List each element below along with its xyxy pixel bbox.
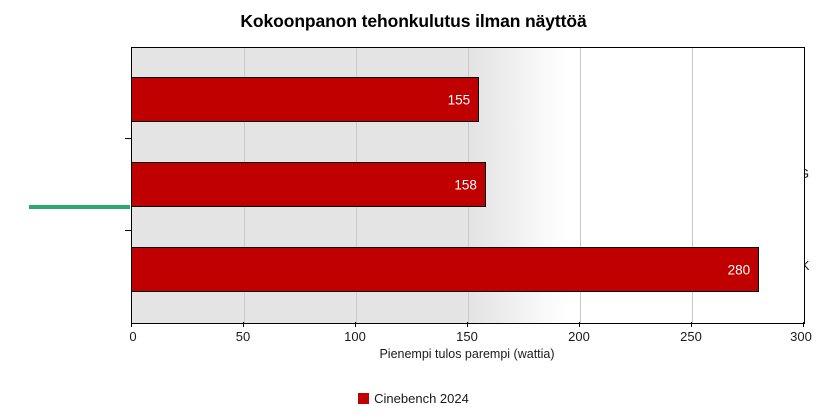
bar-value-1: 158: [454, 178, 477, 192]
x-axis-label-4: 200: [568, 329, 590, 345]
x-axis-tick-2: [355, 322, 356, 327]
legend-label-0: Cinebench 2024: [374, 391, 469, 406]
x-axis-tick-6: [803, 322, 804, 327]
category-highlight-underline: [29, 205, 130, 209]
x-axis-tick-4: [579, 322, 580, 327]
x-axis-label-6: 300: [790, 329, 812, 345]
x-axis-label-3: 150: [456, 329, 478, 345]
x-axis-tick-5: [691, 322, 692, 327]
bar-row-1: 158: [132, 162, 486, 207]
chart-legend: Cinebench 2024: [0, 391, 827, 406]
x-axis-label-5: 250: [680, 329, 702, 345]
plot-inner: 155 158 280: [132, 48, 804, 323]
legend-item-0[interactable]: Cinebench 2024: [358, 391, 469, 406]
bar-value-0: 155: [448, 93, 471, 107]
x-axis-tick-3: [467, 322, 468, 327]
bar-row-0: 155: [132, 77, 479, 122]
x-axis-label-0: 0: [129, 329, 136, 345]
x-axis-label-2: 100: [344, 329, 366, 345]
bar-row-2: 280: [132, 247, 759, 292]
plot-area: 155 158 280: [131, 47, 805, 324]
x-axis-title: Pienempi tulos parempi (wattia): [131, 347, 803, 361]
legend-swatch-icon: [358, 393, 369, 404]
x-axis-tick-1: [243, 322, 244, 327]
chart-title: Kokoonpanon tehonkulutus ilman näyttöä: [0, 11, 827, 32]
bar-chart: Kokoonpanon tehonkulutus ilman näyttöä R…: [0, 0, 827, 416]
x-axis-tick-0: [131, 322, 132, 327]
x-axis-label-1: 50: [236, 329, 250, 345]
bar-value-2: 280: [728, 263, 751, 277]
